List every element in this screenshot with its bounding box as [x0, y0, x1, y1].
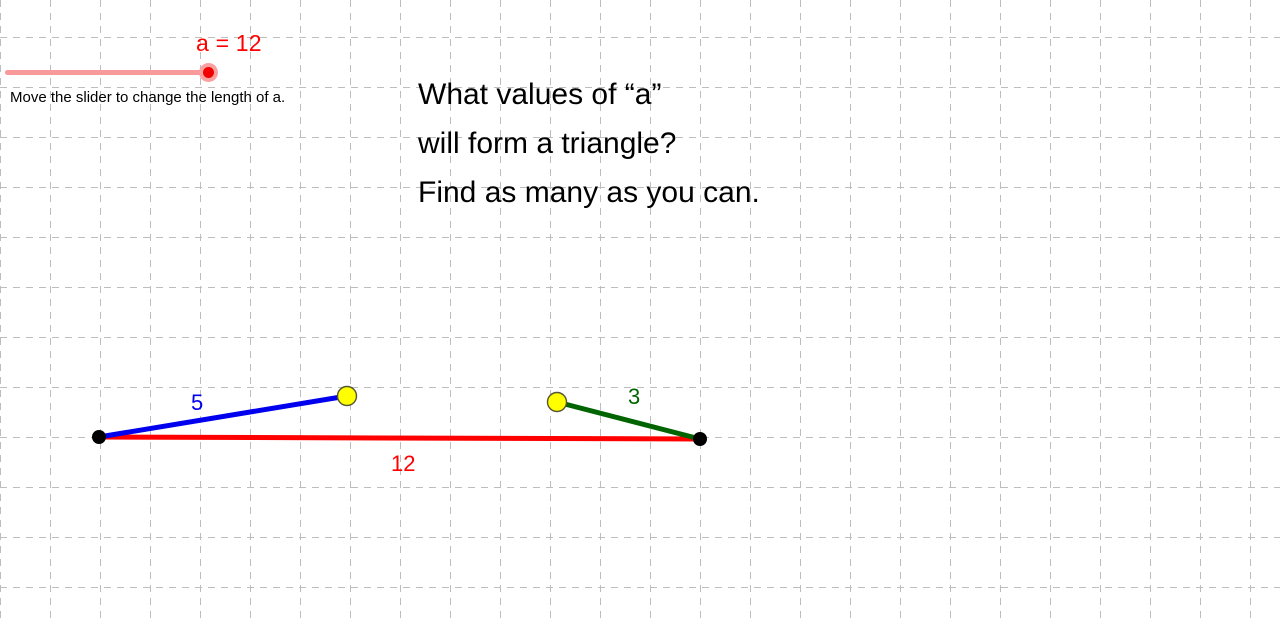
question-line-2: will form a triangle? — [418, 119, 878, 168]
segment-blue-length-label: 5 — [191, 390, 203, 416]
question-line-3: Find as many as you can. — [418, 168, 878, 217]
point-right-fixed[interactable] — [693, 432, 707, 446]
segment-red[interactable] — [99, 437, 700, 439]
slider-a[interactable]: a = 12 Move the slider to change the len… — [0, 30, 340, 110]
slider-caption: Move the slider to change the length of … — [10, 89, 285, 106]
slider-track[interactable] — [5, 70, 210, 75]
question-text: What values of “a” will form a triangle?… — [418, 70, 878, 217]
point-green-free-end[interactable] — [548, 393, 567, 412]
segment-blue[interactable] — [99, 396, 347, 437]
slider-thumb[interactable] — [203, 67, 214, 78]
question-line-1: What values of “a” — [418, 70, 878, 119]
point-blue-free-end[interactable] — [338, 387, 357, 406]
geometry-applet-canvas: 5 3 12 a = 12 Move the slider to change … — [0, 0, 1280, 624]
segment-red-length-label: 12 — [391, 451, 415, 477]
segment-green-length-label: 3 — [628, 384, 640, 410]
slider-value-label: a = 12 — [196, 30, 262, 57]
point-left-fixed[interactable] — [92, 430, 106, 444]
